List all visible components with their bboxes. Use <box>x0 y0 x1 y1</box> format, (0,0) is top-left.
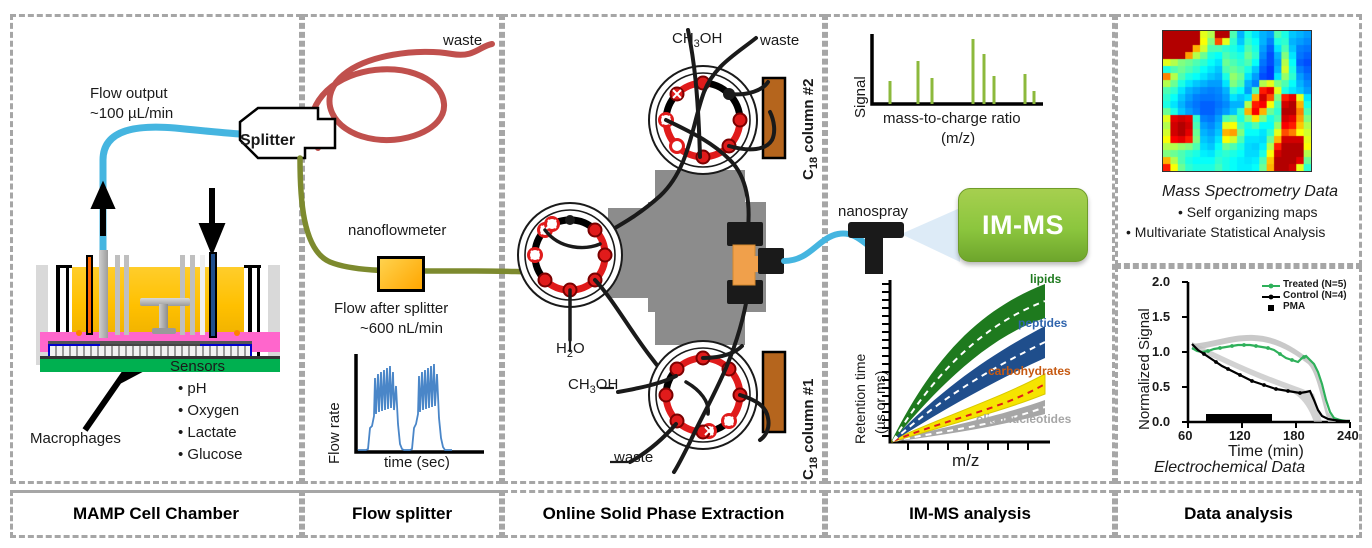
ec-data-title: Electrochemical Data <box>1154 458 1305 478</box>
ec-ytick-2: 1.0 <box>1152 344 1170 360</box>
spray-plume <box>901 208 960 262</box>
ms-data-bullet-2: • Multivariate Statistical Analysis <box>1126 224 1325 242</box>
ec-legend-markers <box>1262 284 1280 311</box>
band-label-oligonucleotides: oligonucleotides <box>976 412 1071 427</box>
som-heatmap <box>1162 30 1312 172</box>
diagram-root: MAMP Cell Chamber Flow splitter Online S… <box>0 0 1372 548</box>
ec-ytick-0: 0.0 <box>1152 414 1170 430</box>
ec-pma-bar <box>1206 414 1272 421</box>
band-label-peptides: peptides <box>1018 316 1067 331</box>
ec-legend-pma: PMA <box>1283 301 1305 314</box>
ms-data-title: Mass Spectrometry Data <box>1162 182 1338 202</box>
retention-time-xlabel: m/z <box>952 450 979 471</box>
ec-xtick-3: 240 <box>1337 428 1359 444</box>
retention-time-chart: Retention time (µs or ms) <box>840 266 1105 476</box>
ec-ytick-3: 1.5 <box>1152 309 1170 325</box>
ec-xtick-0: 60 <box>1178 428 1192 444</box>
nanospray-head <box>848 222 904 238</box>
ec-ytick-4: 2.0 <box>1152 274 1170 290</box>
band-label-carbohydrates: carbohydrates <box>988 364 1071 379</box>
ms-data-bullet-1: • Self organizing maps <box>1178 204 1318 222</box>
band-label-lipids: lipids <box>1030 272 1061 287</box>
imms-device-label: IM-MS <box>982 210 1064 241</box>
imms-device-box[interactable]: IM-MS <box>958 188 1088 262</box>
electrochemical-chart: Normalized Signal <box>1122 272 1358 452</box>
ec-ytick-1: 0.5 <box>1152 379 1170 395</box>
